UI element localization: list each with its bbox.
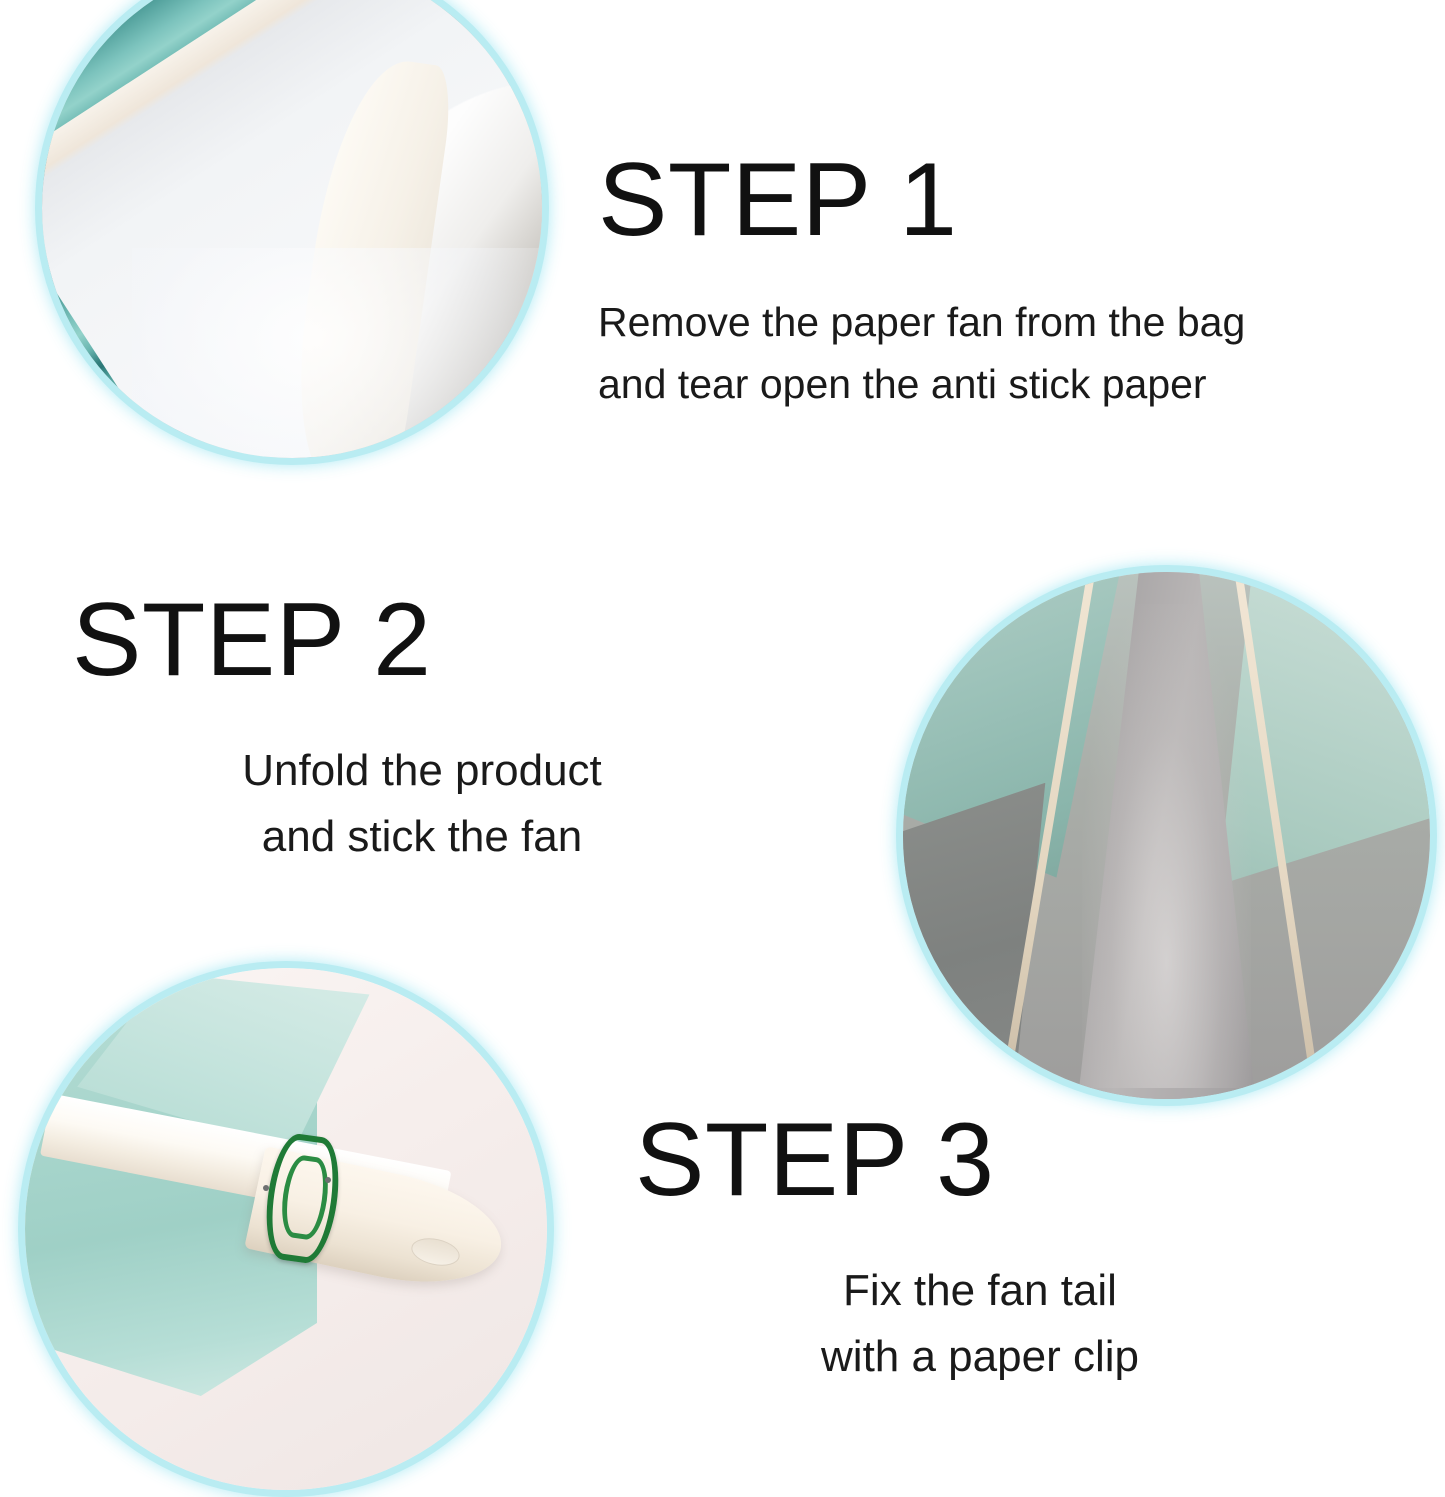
step-2-photo <box>903 572 1430 1099</box>
step-1-description-line-1: Remove the paper fan from the bag <box>598 292 1245 354</box>
instruction-page: STEP 1 Remove the paper fan from the bag… <box>0 0 1445 1497</box>
step-1-description-line-2: and tear open the anti stick paper <box>598 354 1245 416</box>
step-1-title: STEP 1 <box>598 148 1245 252</box>
fan-tail-pin-left <box>263 1185 269 1191</box>
step-2-title: STEP 2 <box>72 588 772 692</box>
fan-center-highlight <box>1082 604 1251 1089</box>
step-1-text-block: STEP 1 Remove the paper fan from the bag… <box>598 148 1245 415</box>
step-2-photo-image <box>903 572 1430 1099</box>
step-3-description: Fix the fan tail with a paper clip <box>635 1258 1325 1390</box>
fan-tail-pin-right <box>325 1177 331 1183</box>
step-1-photo <box>42 0 542 458</box>
step-3-title: STEP 3 <box>635 1108 1325 1212</box>
step-2-description-line-2: and stick the fan <box>72 804 772 870</box>
photo-highlight <box>132 248 542 458</box>
step-2-text-block: STEP 2 Unfold the product and stick the … <box>72 588 772 870</box>
step-2-description: Unfold the product and stick the fan <box>72 738 772 870</box>
step-3-description-line-1: Fix the fan tail <box>635 1258 1325 1324</box>
step-3-photo <box>25 968 547 1490</box>
step-3-description-line-2: with a paper clip <box>635 1324 1325 1390</box>
step-2-description-line-1: Unfold the product <box>72 738 772 804</box>
step-3-text-block: STEP 3 Fix the fan tail with a paper cli… <box>635 1108 1325 1390</box>
step-3-photo-image <box>25 968 547 1490</box>
step-1-description: Remove the paper fan from the bag and te… <box>598 292 1245 415</box>
step-1-photo-image <box>42 0 542 458</box>
